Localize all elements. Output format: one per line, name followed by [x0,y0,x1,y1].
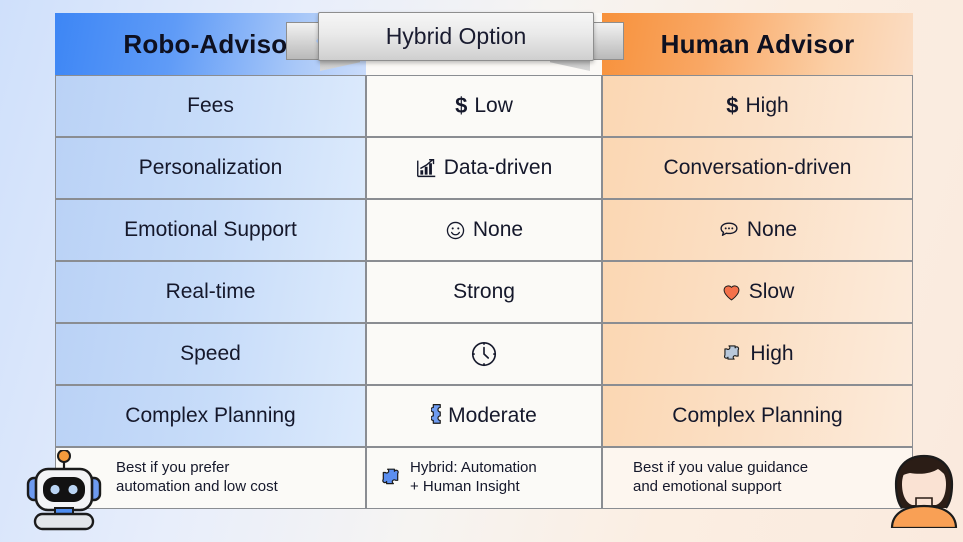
header-robo-advisor: Robo-Advisor [55,13,366,75]
human-value: Complex Planning [602,385,913,447]
header-hybrid-spacer [366,13,602,75]
value-label: Conversation-driven [664,156,852,180]
robo-value: Strong [366,261,602,323]
hybrid-summary-text: Hybrid: Automation + Human Insight [410,459,537,497]
feature-label: Complex Planning [55,385,366,447]
feature-label: Personalization [55,137,366,199]
table-row: Fees $ Low $ High [55,75,913,137]
person-avatar-icon [886,450,962,528]
table-row: Complex Planning Moderate Complex Planni… [55,385,913,447]
comparison-infographic: Robo-Advisor Human Advisor Fees $ Low $ … [0,0,963,542]
clock-icon [469,339,499,369]
human-value: Conversation-driven [602,137,913,199]
value-label: Slow [749,280,795,304]
robo-value: $ Low [366,75,602,137]
feature-label: Emotional Support [55,199,366,261]
feature-label: Fees [55,75,366,137]
feature-label: Real-time [55,261,366,323]
table-row: Real-time Strong Slow [55,261,913,323]
comparison-table: Robo-Advisor Human Advisor Fees $ Low $ … [55,13,913,521]
puzzle-piece-icon [721,343,743,365]
human-value: None [602,199,913,261]
hybrid-summary-cell: Hybrid: Automation + Human Insight [366,447,602,509]
table-footer-row: Best if you prefer automation and low co… [55,447,913,509]
dollar-icon: $ [455,93,467,119]
robo-summary-text: Best if you prefer automation and low co… [116,459,278,497]
value-label: Low [474,94,513,118]
robo-value: Moderate [366,385,602,447]
table-row: Speed [55,323,913,385]
human-summary-text: Best if you value guidance and emotional… [633,459,808,497]
bar-chart-growth-icon [416,158,437,179]
value-label: Complex Planning [672,404,842,428]
dollar-icon: $ [726,93,738,119]
human-value: Slow [602,261,913,323]
smiley-face-icon [445,220,466,241]
puzzle-piece-half-icon [431,403,446,429]
value-label: None [747,218,797,242]
table-header-row: Robo-Advisor Human Advisor [55,13,913,75]
robot-avatar-icon [22,450,106,532]
value-label: High [746,94,789,118]
feature-label: Speed [55,323,366,385]
value-label: Strong [453,280,515,304]
human-value: $ High [602,75,913,137]
table-row: Emotional Support None [55,199,913,261]
value-label: Moderate [448,404,537,428]
human-summary-cell: Best if you value guidance and emotional… [602,447,913,509]
value-label: High [750,342,793,366]
robo-value [366,323,602,385]
robo-value: None [366,199,602,261]
value-label: Data-driven [444,156,553,180]
header-human-advisor: Human Advisor [602,13,913,75]
table-row: Personalization Data- [55,137,913,199]
heart-icon [721,282,742,303]
robo-value: Data-driven [366,137,602,199]
speech-bubble-icon [718,219,740,241]
puzzle-piece-icon [379,466,403,490]
value-label: None [473,218,523,242]
human-value: High [602,323,913,385]
